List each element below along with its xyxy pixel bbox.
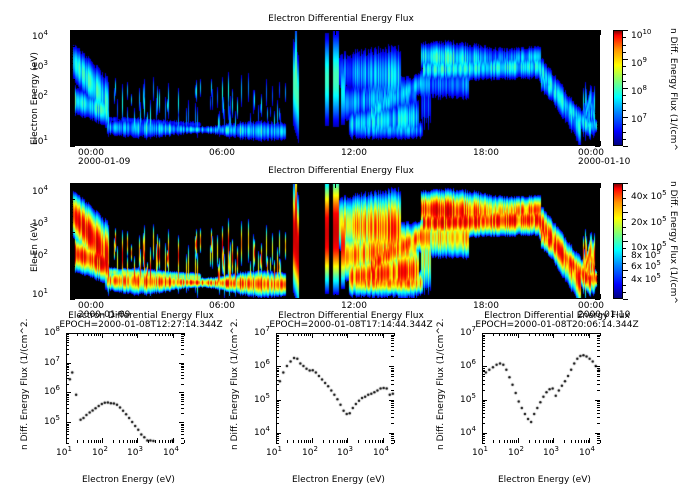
tick-mark <box>383 438 384 443</box>
tick-mark <box>597 390 600 391</box>
tick-mark <box>597 443 600 444</box>
sp2-ytick-6: 106 <box>254 361 270 371</box>
tick-mark <box>623 139 626 140</box>
spectrum-1-xlabel: Electron Energy (eV) <box>82 475 175 485</box>
tick-mark <box>340 440 341 443</box>
sp3-canvas <box>483 334 601 444</box>
sp2-ytick-4: 104 <box>254 428 270 438</box>
mid-ytick-2: 102 <box>32 251 48 261</box>
tick-mark <box>181 349 184 350</box>
tick-mark <box>391 343 394 344</box>
tick-mark <box>123 143 124 146</box>
tick-mark <box>623 219 626 220</box>
tick-mark <box>70 97 73 98</box>
tick-mark <box>165 333 166 336</box>
tick-mark <box>415 183 416 186</box>
tick-mark <box>595 46 600 47</box>
tick-mark <box>623 285 626 286</box>
tick-mark <box>482 333 483 338</box>
tick-mark <box>548 440 549 443</box>
tick-mark <box>70 283 73 284</box>
tick-mark <box>70 69 73 70</box>
tick-mark <box>70 246 73 247</box>
tick-mark <box>575 440 576 443</box>
tick-mark <box>358 333 359 336</box>
tick-mark <box>134 440 135 443</box>
tick-mark <box>70 63 73 64</box>
tick-mark <box>70 216 73 217</box>
tick-mark <box>70 294 71 299</box>
tick-mark <box>597 63 600 64</box>
tick-mark <box>521 296 522 299</box>
tick-mark <box>375 440 376 443</box>
tick-mark <box>589 333 590 338</box>
tick-mark <box>623 248 626 249</box>
tick-mark <box>66 345 69 346</box>
tick-mark <box>70 120 73 121</box>
tick-mark <box>91 333 92 336</box>
tick-mark <box>546 333 547 336</box>
tick-mark <box>597 120 600 121</box>
tick-mark <box>70 93 73 94</box>
sp2-xtick-4: 104 <box>373 448 389 458</box>
tick-mark <box>482 417 485 418</box>
mid-ytick-4: 104 <box>32 187 48 197</box>
tick-mark <box>276 350 279 351</box>
tick-mark <box>70 256 73 257</box>
sp3-xtick-4: 104 <box>579 448 595 458</box>
tick-mark <box>119 440 120 443</box>
tick-mark <box>344 440 345 443</box>
tick-mark <box>97 143 98 146</box>
tick-mark <box>123 183 124 186</box>
tick-mark <box>98 440 99 443</box>
tick-mark <box>148 440 149 443</box>
tick-mark <box>70 222 73 223</box>
tick-mark <box>597 374 600 375</box>
tick-mark <box>70 113 75 114</box>
tick-mark <box>308 440 309 443</box>
tick-mark <box>173 438 174 443</box>
tick-mark <box>482 350 485 351</box>
tick-mark <box>597 343 600 344</box>
tick-mark <box>203 141 204 146</box>
tick-mark <box>119 333 120 336</box>
tick-mark <box>256 183 257 186</box>
tick-mark <box>391 368 394 369</box>
tick-mark <box>597 346 600 347</box>
top-ytick-3: 103 <box>32 62 48 72</box>
tick-mark <box>310 333 311 336</box>
tick-mark <box>66 399 69 400</box>
tick-mark <box>535 333 536 336</box>
tick-mark <box>70 84 73 85</box>
tick-mark <box>597 240 600 241</box>
tick-mark <box>301 333 302 336</box>
spec-top-canvas <box>71 31 599 145</box>
tick-mark <box>375 333 376 336</box>
tick-mark <box>304 440 305 443</box>
tick-mark <box>468 183 469 188</box>
tick-mark <box>132 333 133 336</box>
tick-mark <box>581 440 582 443</box>
tick-mark <box>66 438 67 443</box>
spectrum-3-ylabel: n Diff. Energy Flux (1/(cm^2. <box>436 319 446 450</box>
tick-mark <box>595 266 600 267</box>
tick-mark <box>600 333 601 336</box>
tick-mark <box>66 401 69 402</box>
tick-mark <box>391 443 394 444</box>
tick-mark <box>159 440 160 443</box>
tick-mark <box>623 183 628 184</box>
sp1-ytick-8: 108 <box>44 328 60 338</box>
tick-mark <box>181 429 184 430</box>
tick-mark <box>323 440 324 443</box>
tick-mark <box>514 440 515 443</box>
tick-mark <box>482 340 485 341</box>
tick-mark <box>276 400 281 401</box>
tick-mark <box>66 431 69 432</box>
tick-mark <box>358 440 359 443</box>
tick-mark <box>597 376 600 377</box>
tick-mark <box>340 333 341 336</box>
tick-mark <box>70 201 73 202</box>
tick-mark <box>70 269 73 270</box>
tick-mark <box>623 88 628 89</box>
tick-mark <box>623 124 626 125</box>
tick-mark <box>309 296 310 299</box>
tick-mark <box>176 296 177 299</box>
tick-mark <box>547 296 548 299</box>
spectrum-2-plot[interactable] <box>276 333 394 443</box>
tick-mark <box>574 30 575 33</box>
tick-mark <box>70 267 73 268</box>
tick-mark <box>586 440 587 443</box>
tick-mark <box>276 338 279 339</box>
tick-mark <box>623 270 628 271</box>
tick-mark <box>127 440 128 443</box>
tick-mark <box>70 183 71 188</box>
spectrum-1-ylabel: n Diff. Energy Flux (1/(cm^2. <box>20 319 30 450</box>
top-spectrogram-plot[interactable] <box>70 30 600 146</box>
tick-mark <box>276 423 279 424</box>
tick-mark <box>96 333 97 336</box>
tick-mark <box>181 438 184 439</box>
spectrum-1-plot[interactable] <box>66 333 184 443</box>
sp3-xtick-2: 102 <box>508 448 524 458</box>
tick-mark <box>83 333 84 336</box>
tick-mark <box>342 440 343 443</box>
tick-mark <box>521 30 522 33</box>
sp2-ytick-5: 105 <box>254 395 270 405</box>
tick-mark <box>597 36 600 37</box>
tick-mark <box>150 183 151 186</box>
tick-mark <box>493 333 494 336</box>
tick-mark <box>137 438 138 443</box>
tick-mark <box>597 256 600 257</box>
sp2-ytick-7: 107 <box>254 328 270 338</box>
tick-mark <box>441 143 442 146</box>
tick-mark <box>391 356 394 357</box>
tick-mark <box>203 294 204 299</box>
tick-mark <box>323 333 324 336</box>
tick-mark <box>578 333 579 336</box>
tick-mark <box>441 30 442 33</box>
sp1-ytick-5: 105 <box>44 417 60 427</box>
tick-mark <box>335 30 336 35</box>
tick-mark <box>70 56 73 57</box>
tick-mark <box>168 333 169 336</box>
tick-mark <box>97 30 98 33</box>
tick-mark <box>623 37 626 38</box>
tick-mark <box>482 368 485 369</box>
tick-mark <box>181 425 184 426</box>
tick-mark <box>170 333 171 336</box>
tick-mark <box>597 202 600 203</box>
tick-mark <box>595 146 600 147</box>
sp3-ytick-7: 107 <box>460 328 476 338</box>
tick-mark <box>623 81 626 82</box>
top-cbar-tick-7: 107 <box>631 115 647 125</box>
tick-mark <box>482 403 485 404</box>
tick-mark <box>70 48 73 49</box>
tick-mark <box>482 338 485 339</box>
tick-mark <box>597 189 600 190</box>
tick-mark <box>130 333 131 336</box>
tick-mark <box>256 296 257 299</box>
tick-mark <box>181 404 184 405</box>
tick-mark <box>66 404 69 405</box>
top-xtick-0-date: 2000-01-09 <box>78 157 130 167</box>
spectrum-1-subtitle: EPOCH=2000-01-08T12:27:14.344Z <box>36 320 246 330</box>
tick-mark <box>623 110 626 111</box>
tick-mark <box>66 394 69 395</box>
tick-mark <box>597 401 600 402</box>
tick-mark <box>77 440 78 443</box>
tick-mark <box>66 427 69 428</box>
tick-mark <box>276 376 279 377</box>
tick-mark <box>516 440 517 443</box>
tick-mark <box>66 378 69 379</box>
tick-mark <box>70 250 73 251</box>
tick-mark <box>70 276 73 277</box>
tick-mark <box>282 30 283 33</box>
tick-mark <box>309 183 310 186</box>
tick-mark <box>623 117 628 118</box>
tick-mark <box>113 440 114 443</box>
tick-mark <box>203 30 204 35</box>
tick-mark <box>66 333 67 338</box>
tick-mark <box>507 440 508 443</box>
tick-mark <box>623 292 626 293</box>
tick-mark <box>123 296 124 299</box>
tick-mark <box>309 143 310 146</box>
tick-mark <box>282 143 283 146</box>
tick-mark <box>482 438 483 443</box>
tick-mark <box>66 375 69 376</box>
tick-mark <box>595 433 600 434</box>
tick-mark <box>482 376 485 377</box>
tick-mark <box>123 30 124 33</box>
sp3-xtick-1: 101 <box>472 448 488 458</box>
tick-mark <box>333 333 334 336</box>
tick-mark <box>391 405 394 406</box>
tick-mark <box>181 434 184 435</box>
tick-mark <box>70 199 75 200</box>
tick-mark <box>329 440 330 443</box>
tick-mark <box>597 403 600 404</box>
tick-mark <box>623 103 626 104</box>
tick-mark <box>391 438 394 439</box>
tick-mark <box>276 340 279 341</box>
tick-mark <box>597 93 600 94</box>
tick-mark <box>123 333 124 336</box>
sp3-ytick-4: 104 <box>460 428 476 438</box>
tick-mark <box>584 440 585 443</box>
tick-mark <box>276 380 279 381</box>
spectrum-3-plot[interactable] <box>482 333 600 443</box>
tick-mark <box>391 434 394 435</box>
top-colorbar-label: n Diff. Energy Flux (1/(cm^ <box>668 28 678 151</box>
tick-mark <box>597 250 600 251</box>
tick-mark <box>597 276 600 277</box>
tick-mark <box>394 440 395 443</box>
tick-mark <box>597 81 600 82</box>
tick-mark <box>597 236 600 237</box>
tick-mark <box>287 333 288 336</box>
tick-mark <box>589 438 590 443</box>
tick-mark <box>94 333 95 336</box>
tick-mark <box>113 333 114 336</box>
tick-mark <box>623 299 628 300</box>
tick-mark <box>507 333 508 336</box>
tick-mark <box>597 269 600 270</box>
tick-mark <box>380 333 381 336</box>
tick-mark <box>176 183 177 186</box>
sp3-xtick-3: 103 <box>543 448 559 458</box>
tick-mark <box>499 333 500 336</box>
tick-mark <box>304 333 305 336</box>
tick-mark <box>597 84 600 85</box>
tick-mark <box>150 143 151 146</box>
sp1-ytick-6: 106 <box>44 387 60 397</box>
tick-mark <box>70 46 75 47</box>
tick-mark <box>415 143 416 146</box>
tick-mark <box>293 440 294 443</box>
tick-mark <box>391 384 394 385</box>
tick-mark <box>70 204 73 205</box>
tick-mark <box>276 433 281 434</box>
tick-mark <box>372 333 373 336</box>
tick-mark <box>597 370 600 371</box>
tick-mark <box>369 440 370 443</box>
mid-ytick-3: 103 <box>32 219 48 229</box>
tick-mark <box>181 340 184 341</box>
tick-mark <box>391 423 394 424</box>
tick-mark <box>482 401 485 402</box>
tick-mark <box>482 343 485 344</box>
tick-mark <box>70 51 73 52</box>
tick-mark <box>66 342 69 343</box>
sp1-canvas <box>67 334 185 444</box>
tick-mark <box>623 212 628 213</box>
middle-colorbar-label: n Diff. Energy Flux (1/(cm^ <box>668 181 678 304</box>
tick-mark <box>597 97 600 98</box>
middle-panel-title: Electron Differential Energy Flux <box>181 166 501 176</box>
tick-mark <box>550 440 551 443</box>
tick-mark <box>571 440 572 443</box>
tick-mark <box>181 427 184 428</box>
tick-mark <box>312 333 313 338</box>
tick-mark <box>312 438 313 443</box>
tick-mark <box>70 36 73 37</box>
tick-mark <box>623 227 626 228</box>
tick-mark <box>70 189 73 190</box>
tick-mark <box>298 440 299 443</box>
tick-mark <box>391 350 394 351</box>
tick-mark <box>309 30 310 33</box>
tick-mark <box>595 113 600 114</box>
tick-mark <box>70 116 73 117</box>
tick-mark <box>276 436 279 437</box>
tick-mark <box>150 296 151 299</box>
tick-mark <box>521 183 522 186</box>
tick-mark <box>70 103 73 104</box>
tick-mark <box>70 271 73 272</box>
middle-panel-ylabel: Ele En (eV) <box>30 222 40 272</box>
tick-mark <box>66 367 69 368</box>
tick-mark <box>70 118 73 119</box>
tick-mark <box>597 340 600 341</box>
tick-mark <box>134 333 135 336</box>
sp2-canvas <box>277 334 395 444</box>
tick-mark <box>623 205 626 206</box>
tick-mark <box>539 333 540 336</box>
top-xtick-2: 12:00 <box>341 148 367 158</box>
tick-mark <box>623 277 626 278</box>
tick-mark <box>256 30 257 33</box>
tick-mark <box>623 95 626 96</box>
tick-mark <box>482 410 485 411</box>
tick-mark <box>547 30 548 33</box>
tick-mark <box>388 183 389 186</box>
tick-mark <box>70 289 73 290</box>
top-cbar-tick-9: 109 <box>631 59 647 69</box>
mid-cbar-tick-40: 40x 105 <box>631 192 667 202</box>
tick-mark <box>256 143 257 146</box>
top-ytick-1: 101 <box>32 137 48 147</box>
tick-mark <box>595 79 600 80</box>
tick-mark <box>595 299 600 300</box>
tick-mark <box>66 340 69 341</box>
tick-mark <box>70 136 73 137</box>
tick-mark <box>597 237 600 238</box>
tick-mark <box>494 143 495 146</box>
tick-mark <box>70 209 73 210</box>
tick-mark <box>162 440 163 443</box>
tick-mark <box>276 401 279 402</box>
tick-mark <box>100 440 101 443</box>
tick-mark <box>389 400 394 401</box>
tick-mark <box>70 146 75 147</box>
tick-mark <box>597 417 600 418</box>
tick-mark <box>535 440 536 443</box>
tick-mark <box>66 422 71 423</box>
middle-spectrogram-plot[interactable] <box>70 183 600 299</box>
tick-mark <box>391 410 394 411</box>
tick-mark <box>597 336 600 337</box>
tick-mark <box>553 438 554 443</box>
